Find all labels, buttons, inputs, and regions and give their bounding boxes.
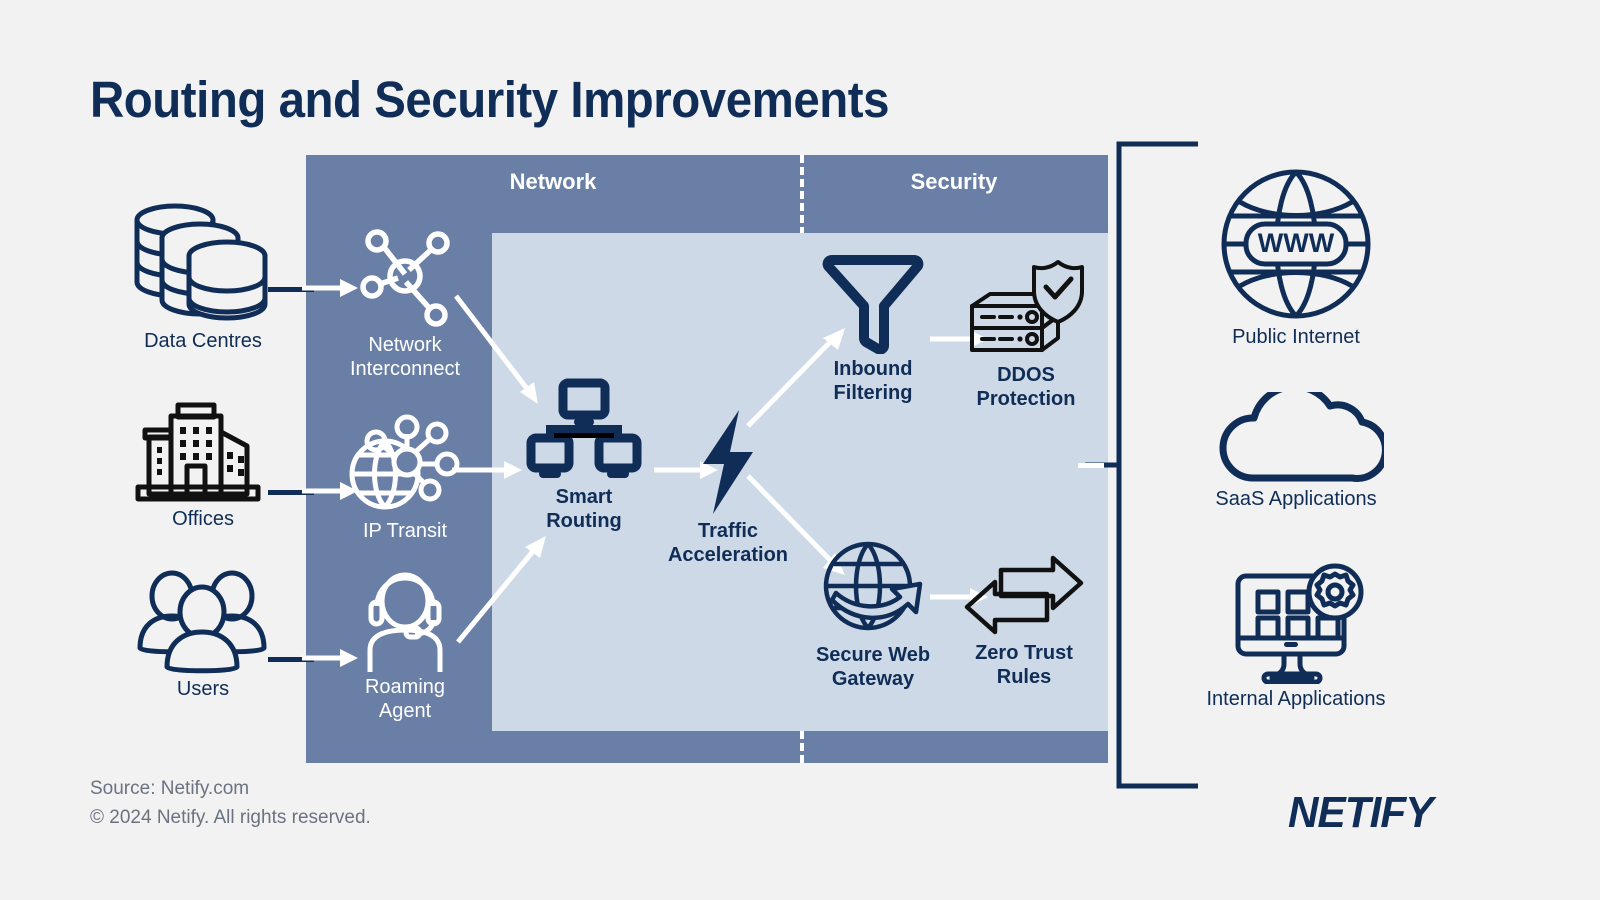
database-stack-icon <box>108 198 298 326</box>
funnel-icon <box>798 250 948 354</box>
cloud-icon <box>1196 392 1396 484</box>
source-label: Offices <box>108 508 298 532</box>
source-offices[interactable]: Offices <box>108 400 298 532</box>
monitor-apps-gear-icon <box>1186 562 1406 684</box>
footer: Source: Netify.com © 2024 Netify. All ri… <box>90 775 371 833</box>
destination-label: SaaS Applications <box>1196 488 1396 512</box>
arrow-roaming-agent-to-smart-routing <box>448 530 554 650</box>
office-building-icon <box>108 400 298 504</box>
destination-internal-applications[interactable]: Internal Applications <box>1186 562 1406 712</box>
globe-arrow-icon <box>798 538 948 640</box>
www-glyph: WWW <box>1258 228 1335 258</box>
node-ddos-protection[interactable]: DDOS Protection <box>950 258 1102 411</box>
panel-header-security: Security <box>800 169 1108 195</box>
bidirectional-arrows-icon <box>950 552 1098 638</box>
node-label: Roaming Agent <box>320 676 490 723</box>
source-users[interactable]: Users <box>108 570 298 702</box>
node-label: Secure Web Gateway <box>798 644 948 691</box>
infographic-canvas: Routing and Security Improvements Networ… <box>0 0 1600 900</box>
source-label: Users <box>108 678 298 702</box>
node-label: Smart Routing <box>506 486 662 533</box>
server-shield-check-icon <box>950 258 1102 360</box>
node-label: Zero Trust Rules <box>950 642 1098 689</box>
source-data-centres[interactable]: Data Centres <box>108 198 298 354</box>
destination-saas-applications[interactable]: SaaS Applications <box>1196 392 1396 512</box>
footer-copyright: © 2024 Netify. All rights reserved. <box>90 804 371 833</box>
footer-source: Source: Netify.com <box>90 775 371 804</box>
destination-label: Public Internet <box>1196 326 1396 350</box>
page-title: Routing and Security Improvements <box>90 70 889 129</box>
node-label: DDOS Protection <box>950 364 1102 411</box>
node-zero-trust-rules[interactable]: Zero Trust Rules <box>950 552 1098 689</box>
destination-label: Internal Applications <box>1186 688 1406 712</box>
node-smart-routing[interactable]: Smart Routing <box>506 378 662 533</box>
connector-panel-to-bracket <box>1078 463 1104 468</box>
source-label: Data Centres <box>108 330 298 354</box>
globe-www-icon: WWW <box>1196 166 1396 322</box>
panel-header-network: Network <box>306 169 800 195</box>
network-topology-icon <box>506 378 662 482</box>
destination-public-internet[interactable]: WWW Public Internet <box>1196 166 1396 350</box>
node-secure-web-gateway[interactable]: Secure Web Gateway <box>798 538 948 691</box>
node-label: Inbound Filtering <box>798 358 948 405</box>
netify-logo: NETIFY <box>1288 788 1432 838</box>
node-inbound-filtering[interactable]: Inbound Filtering <box>798 250 948 405</box>
